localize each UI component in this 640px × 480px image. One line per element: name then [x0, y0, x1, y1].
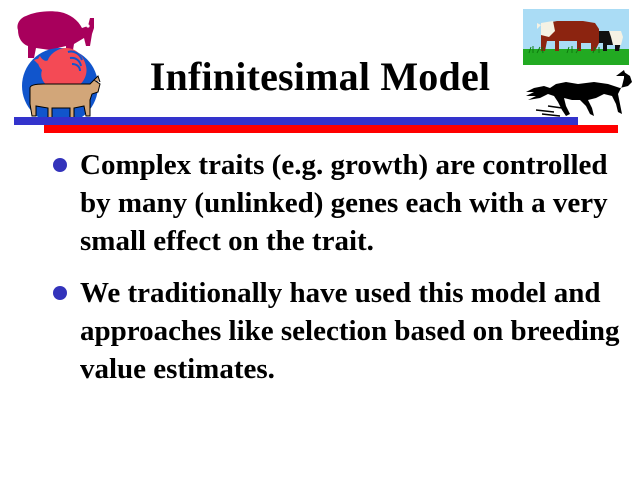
slide-canvas: Infinitesimal Model Complex traits (e.g.…: [0, 0, 640, 480]
list-item: Complex traits (e.g. growth) are control…: [48, 146, 626, 260]
list-item: We traditionally have used this model an…: [48, 274, 626, 388]
bullet-dot-icon: [53, 158, 67, 172]
page-title: Infinitesimal Model: [120, 56, 520, 98]
divider-bar-red: [44, 125, 618, 133]
cattle-pasture-photo: [523, 9, 629, 65]
galloping-horse-silhouette: [520, 66, 636, 122]
bullet-list: Complex traits (e.g. growth) are control…: [48, 146, 626, 402]
list-item-text: We traditionally have used this model an…: [80, 274, 626, 388]
list-item-text: Complex traits (e.g. growth) are control…: [80, 146, 626, 260]
bullet-dot-icon: [53, 286, 67, 300]
divider-bar-blue: [14, 117, 578, 125]
livestock-logo: [4, 4, 116, 124]
